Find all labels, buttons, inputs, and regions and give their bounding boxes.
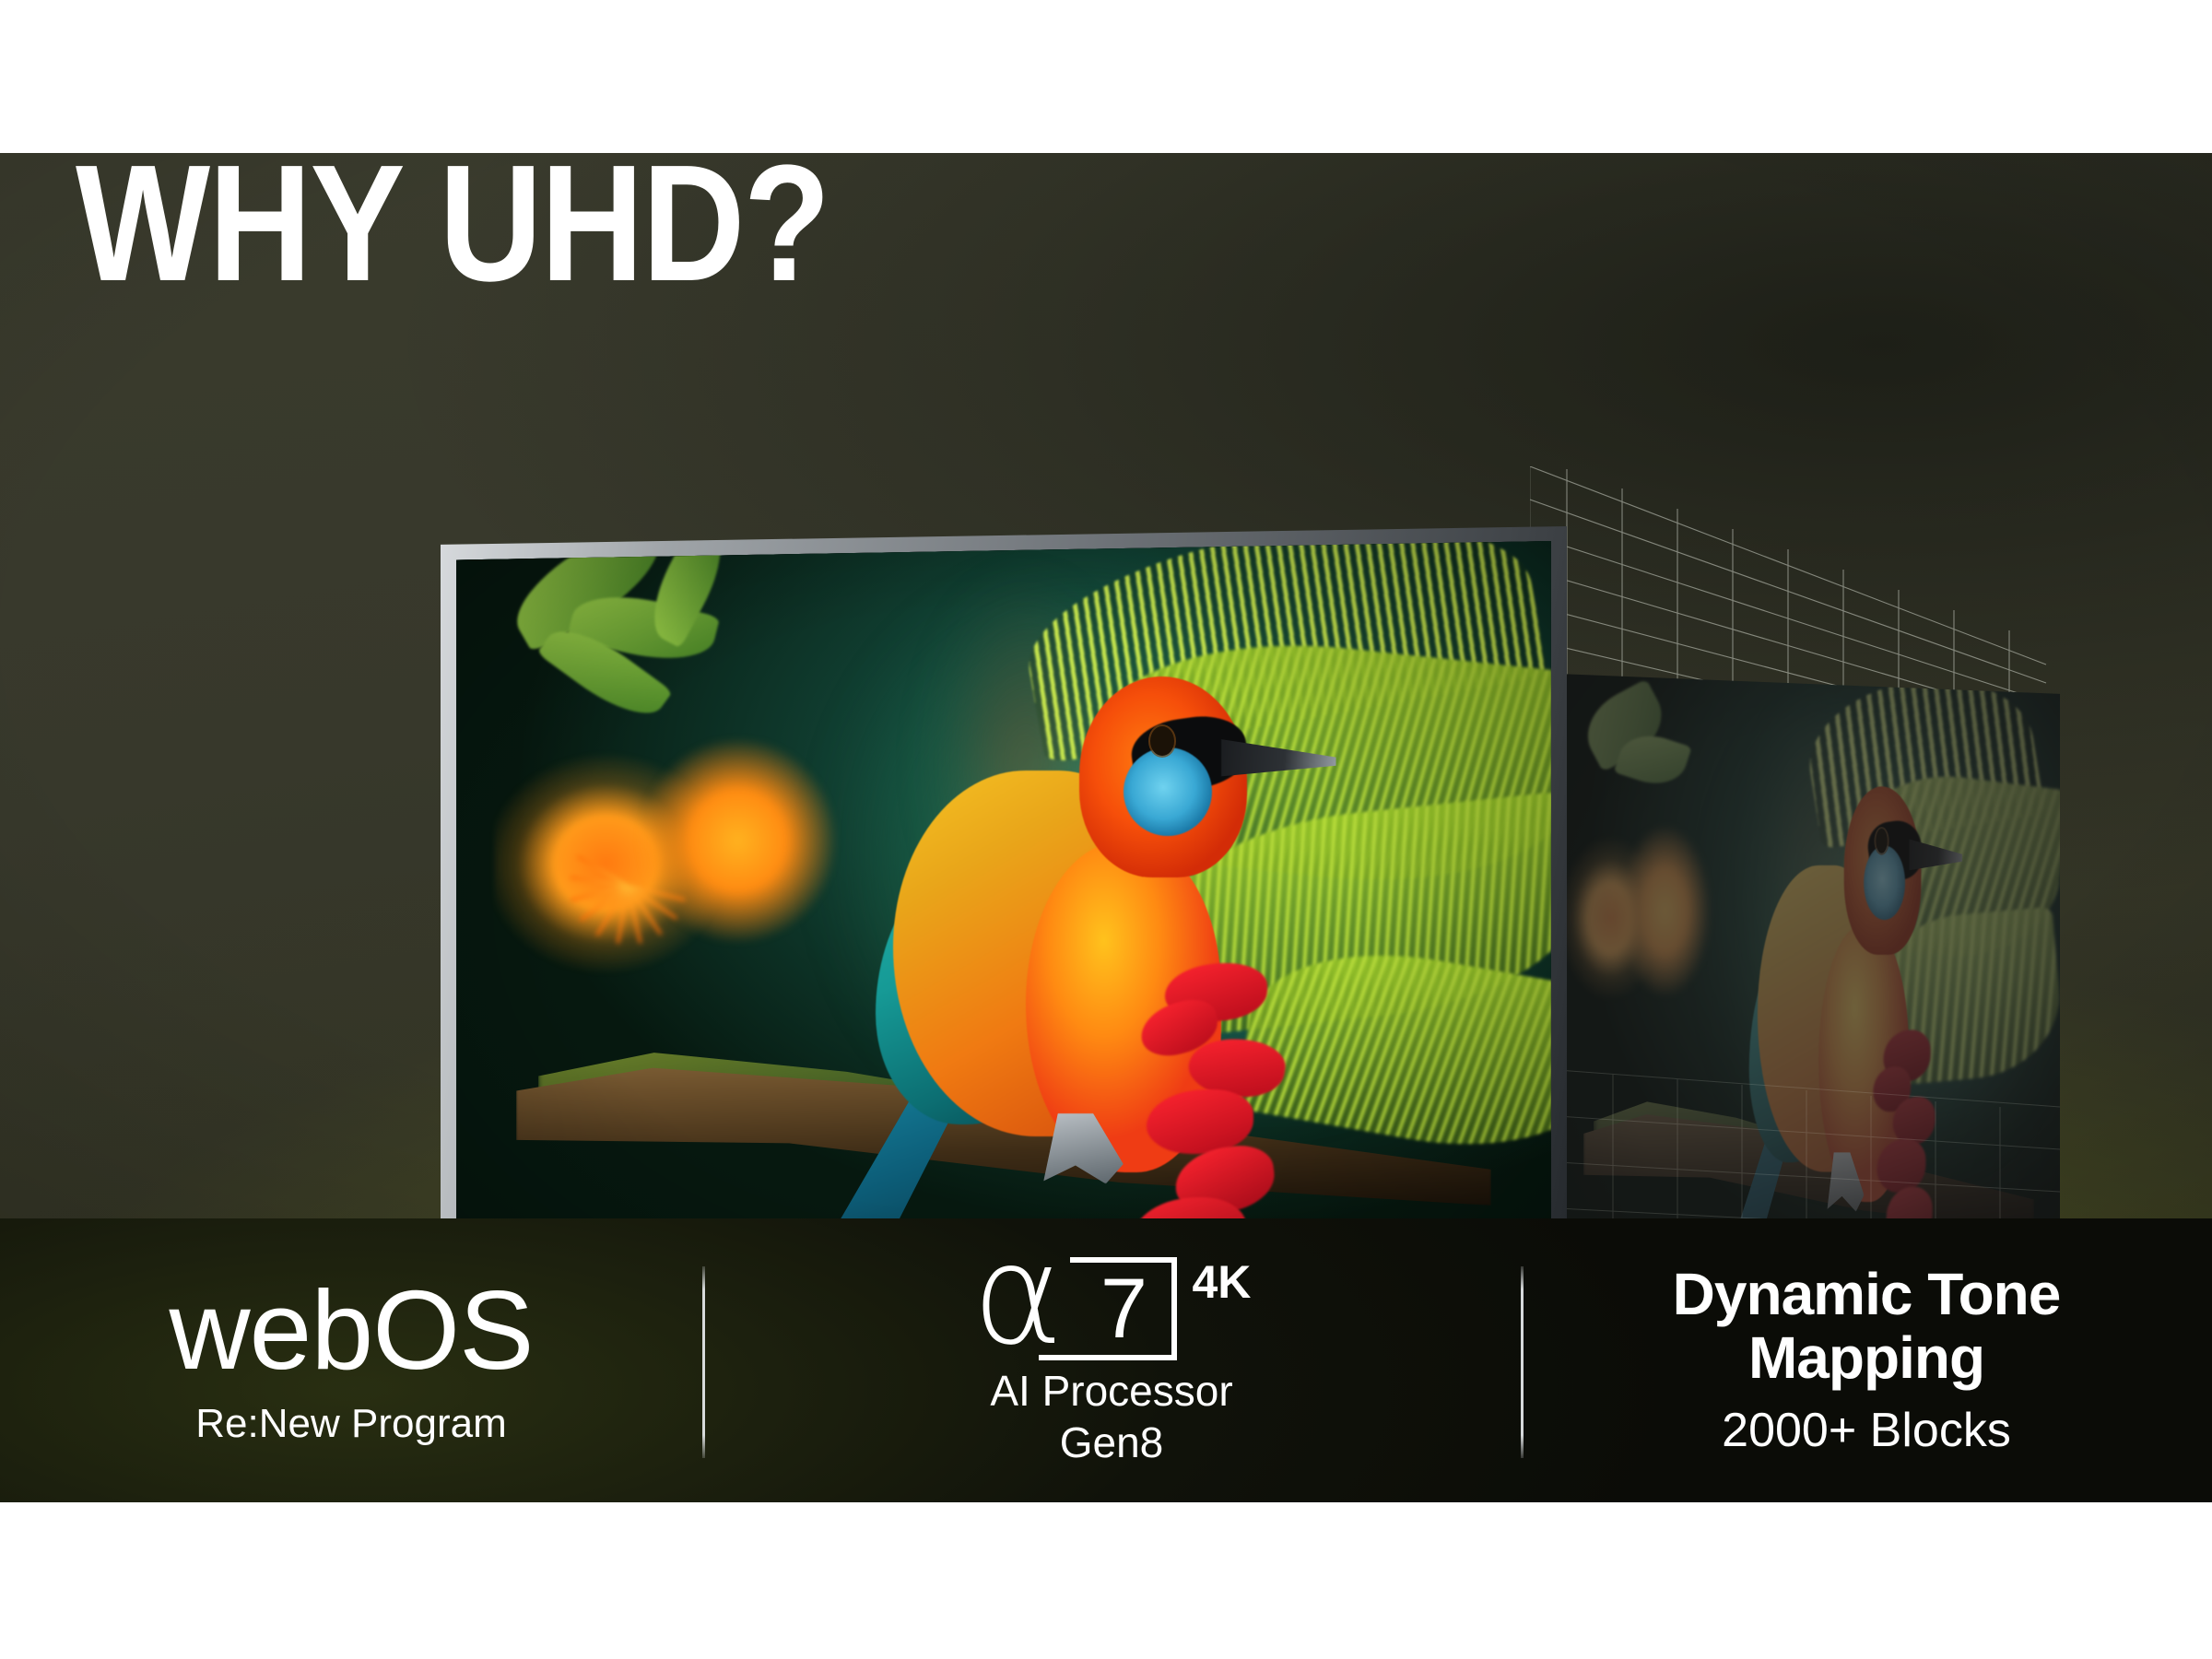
nature-scene-dim bbox=[1558, 674, 2060, 1218]
feature-bar: webOS Re:New Program α 7 4K AI Processor… bbox=[0, 1218, 2212, 1502]
page-title: WHY UHD? bbox=[76, 153, 829, 302]
tv-screen bbox=[450, 534, 1558, 1218]
letterbox-top bbox=[0, 0, 2212, 153]
uhd-tv-front-panel bbox=[441, 526, 1567, 1218]
nature-scene bbox=[450, 534, 1558, 1218]
feature-tone-mapping: Dynamic Tone Mapping 2000+ Blocks bbox=[1521, 1218, 2212, 1502]
4k-superscript: 4K bbox=[1192, 1255, 1251, 1309]
tone-subtitle: 2000+ Blocks bbox=[1722, 1403, 2011, 1458]
alpha-glyph-icon: α bbox=[972, 1246, 1064, 1346]
hero-scene: WHY UHD? bbox=[0, 153, 2212, 1218]
letterbox-bottom bbox=[0, 1502, 2212, 1659]
feature-ai-processor: α 7 4K AI Processor Gen8 bbox=[702, 1218, 1521, 1502]
promo-stage: WHY UHD? bbox=[0, 0, 2212, 1659]
webos-logo: webOS bbox=[169, 1274, 533, 1386]
tone-title-line2: Mapping bbox=[1748, 1326, 1984, 1390]
seven-badge-icon: 7 bbox=[1070, 1257, 1177, 1360]
processor-subtitle-line2: Gen8 bbox=[1060, 1418, 1164, 1467]
faded-depth-panel bbox=[1558, 674, 2060, 1218]
seven-number: 7 bbox=[1100, 1266, 1147, 1351]
alpha7-logo: α 7 4K bbox=[972, 1253, 1252, 1360]
webos-subtitle: Re:New Program bbox=[195, 1401, 506, 1447]
feature-webos: webOS Re:New Program bbox=[0, 1218, 702, 1502]
tone-title-line1: Dynamic Tone bbox=[1673, 1263, 2061, 1326]
